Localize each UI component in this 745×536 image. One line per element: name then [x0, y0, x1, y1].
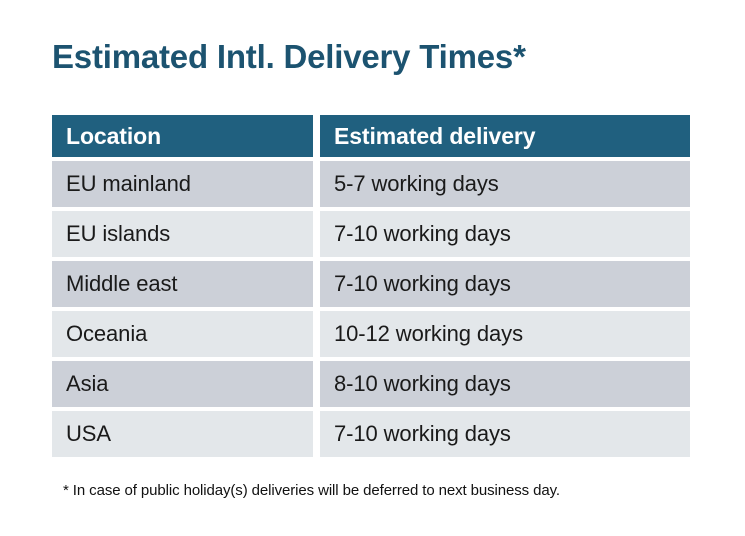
- cell-location: Asia: [52, 361, 313, 407]
- cell-estimated-delivery: 7-10 working days: [320, 211, 690, 257]
- cell-location: EU islands: [52, 211, 313, 257]
- cell-location: Middle east: [52, 261, 313, 307]
- table-row: USA 7-10 working days: [52, 411, 690, 457]
- cell-estimated-delivery: 8-10 working days: [320, 361, 690, 407]
- table-row: EU islands 7-10 working days: [52, 211, 690, 257]
- table-row: Oceania 10-12 working days: [52, 311, 690, 357]
- delivery-times-page: Estimated Intl. Delivery Times* Location…: [0, 0, 745, 536]
- cell-location: EU mainland: [52, 161, 313, 207]
- cell-estimated-delivery: 10-12 working days: [320, 311, 690, 357]
- cell-estimated-delivery: 7-10 working days: [320, 261, 690, 307]
- column-header-location: Location: [52, 115, 313, 157]
- column-header-estimated-delivery: Estimated delivery: [320, 115, 690, 157]
- table-row: Asia 8-10 working days: [52, 361, 690, 407]
- cell-estimated-delivery: 5-7 working days: [320, 161, 690, 207]
- cell-location: USA: [52, 411, 313, 457]
- table-row: Middle east 7-10 working days: [52, 261, 690, 307]
- cell-location: Oceania: [52, 311, 313, 357]
- page-title: Estimated Intl. Delivery Times*: [52, 36, 526, 78]
- table-row: EU mainland 5-7 working days: [52, 161, 690, 207]
- delivery-times-table: Location Estimated delivery EU mainland …: [52, 115, 690, 457]
- table-header-row: Location Estimated delivery: [52, 115, 690, 157]
- cell-estimated-delivery: 7-10 working days: [320, 411, 690, 457]
- footnote-text: * In case of public holiday(s) deliverie…: [63, 481, 560, 501]
